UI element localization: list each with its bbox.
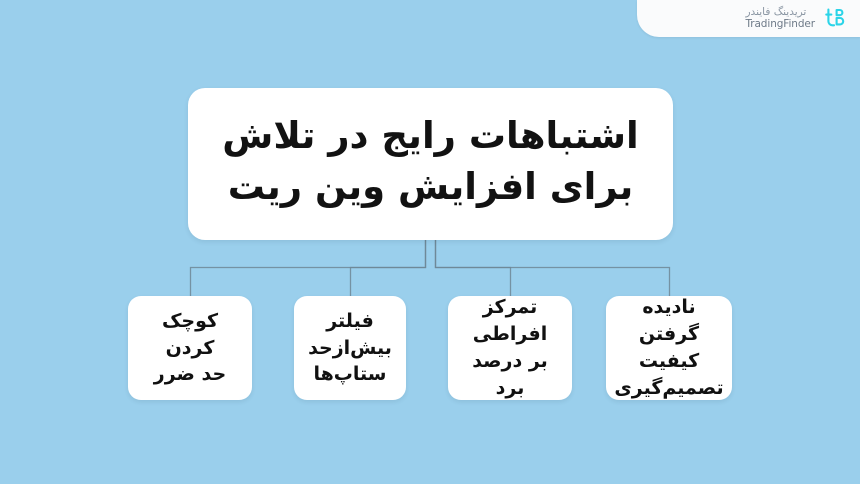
leaf-card-nadide-gereftan-keyfiyat-tasmimgiri: نادیده گرفتن کیفیت تصمیم‌گیری [606, 296, 732, 400]
leaf-card-filter-bish-az-had-setup-ha: فیلتر بیش‌ازحد ستاپ‌ها [294, 296, 406, 400]
connector-lines [0, 0, 860, 484]
brand-badge[interactable]: تریدینگ فایندر TradingFinder [637, 0, 860, 37]
leaf-card-label: تمرکز افراطی بر درصد برد [456, 294, 564, 402]
infographic-canvas: تریدینگ فایندر TradingFinder اشتباهات را… [0, 0, 860, 484]
leaf-card-label: فیلتر بیش‌ازحد ستاپ‌ها [308, 308, 392, 389]
connector-to-leaf-1 [351, 240, 426, 296]
brand-name-en: TradingFinder [745, 19, 815, 30]
connector-to-leaf-0 [191, 240, 426, 296]
leaf-card-label: کوچک کردن حد ضرر [136, 308, 244, 389]
tradingfinder-logo-icon [822, 7, 846, 31]
leaf-card-kouchak-kardan-hadd-zarar: کوچک کردن حد ضرر [128, 296, 252, 400]
title-card: اشتباهات رایج در تلاش برای افزایش وین ری… [188, 88, 673, 240]
connector-to-leaf-3 [436, 240, 670, 296]
brand-name-fa: تریدینگ فایندر [745, 7, 806, 18]
leaf-card-label: نادیده گرفتن کیفیت تصمیم‌گیری [614, 294, 724, 402]
brand-text-group: تریدینگ فایندر TradingFinder [745, 7, 815, 29]
connector-to-leaf-2 [436, 240, 511, 296]
page-title: اشتباهات رایج در تلاش برای افزایش وین ری… [222, 110, 638, 212]
leaf-card-tamarkoz-efrati-bar-darsad-bord: تمرکز افراطی بر درصد برد [448, 296, 572, 400]
